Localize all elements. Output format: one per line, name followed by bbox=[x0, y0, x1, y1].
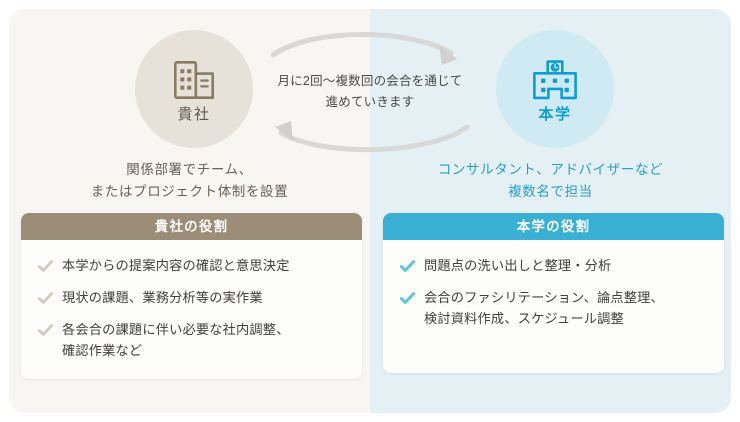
client-role-card-title: 貴社の役割 bbox=[21, 213, 362, 240]
list-item: 会合のファシリテーション、論点整理、 検討資料作成、スケジュール調整 bbox=[399, 288, 706, 330]
list-item: 各会合の課題に伴い必要な社内調整、 確認作業など bbox=[37, 320, 344, 362]
check-icon bbox=[399, 258, 416, 275]
university-subtitle: コンサルタント、アドバイザーなど 複数名で担当 bbox=[380, 159, 721, 203]
client-subtitle: 関係部署でチーム、 またはプロジェクト体制を設置 bbox=[19, 159, 360, 203]
client-circle: 貴社 bbox=[135, 30, 253, 148]
flow-caption-line-2: 進めていきます bbox=[261, 92, 479, 113]
university-role-card: 本学の役割 問題点の洗い出しと整理・分析 bbox=[383, 213, 724, 373]
list-item-text: 本学からの提案内容の確認と意思決定 bbox=[62, 256, 290, 277]
flow-caption-line-1: 月に2回〜複数回の会合を通じて bbox=[261, 71, 479, 92]
list-item-text: 現状の課題、業務分析等の実作業 bbox=[62, 288, 263, 309]
university-circle: 本学 bbox=[496, 30, 614, 148]
client-role-card: 貴社の役割 本学からの提案内容の確認と意思決定 bbox=[21, 213, 362, 379]
actor-client: 貴社 bbox=[135, 30, 253, 148]
arrow-left-curved bbox=[275, 121, 467, 150]
flow-caption: 月に2回〜複数回の会合を通じて 進めていきます bbox=[261, 71, 479, 112]
university-subtitle-line-2: 複数名で担当 bbox=[380, 181, 721, 203]
list-item: 問題点の洗い出しと整理・分析 bbox=[399, 256, 706, 277]
client-subtitle-line-1: 関係部署でチーム、 bbox=[19, 159, 360, 181]
diagram-root: 貴社 bbox=[0, 0, 740, 422]
list-item-text: 会合のファシリテーション、論点整理、 検討資料作成、スケジュール調整 bbox=[424, 288, 664, 330]
university-subtitle-line-1: コンサルタント、アドバイザーなど bbox=[380, 159, 721, 181]
office-building-icon bbox=[170, 57, 218, 103]
list-item-text: 各会合の課題に伴い必要な社内調整、 確認作業など bbox=[62, 320, 290, 362]
school-building-icon bbox=[530, 57, 580, 103]
university-role-card-body: 問題点の洗い出しと整理・分析 会合のファシリテーション、論点整理、 検討資料作成… bbox=[383, 240, 724, 373]
check-icon bbox=[37, 290, 54, 307]
list-item: 現状の課題、業務分析等の実作業 bbox=[37, 288, 344, 309]
client-role-card-body: 本学からの提案内容の確認と意思決定 現状の課題、業務分析等の実作業 bbox=[21, 240, 362, 379]
client-subtitle-line-2: またはプロジェクト体制を設置 bbox=[19, 181, 360, 203]
check-icon bbox=[399, 290, 416, 307]
university-role-card-title: 本学の役割 bbox=[383, 213, 724, 240]
check-icon bbox=[37, 258, 54, 275]
flow-between-actors: 月に2回〜複数回の会合を通じて 進めていきます bbox=[261, 17, 479, 165]
list-item: 本学からの提案内容の確認と意思決定 bbox=[37, 256, 344, 277]
arrow-right-curved bbox=[273, 35, 457, 66]
university-circle-label: 本学 bbox=[538, 107, 571, 122]
list-item-text: 問題点の洗い出しと整理・分析 bbox=[424, 256, 611, 277]
check-icon bbox=[37, 322, 54, 339]
client-circle-label: 貴社 bbox=[177, 107, 210, 122]
diagram-panel: 貴社 bbox=[9, 9, 731, 413]
actor-university: 本学 bbox=[496, 30, 614, 148]
